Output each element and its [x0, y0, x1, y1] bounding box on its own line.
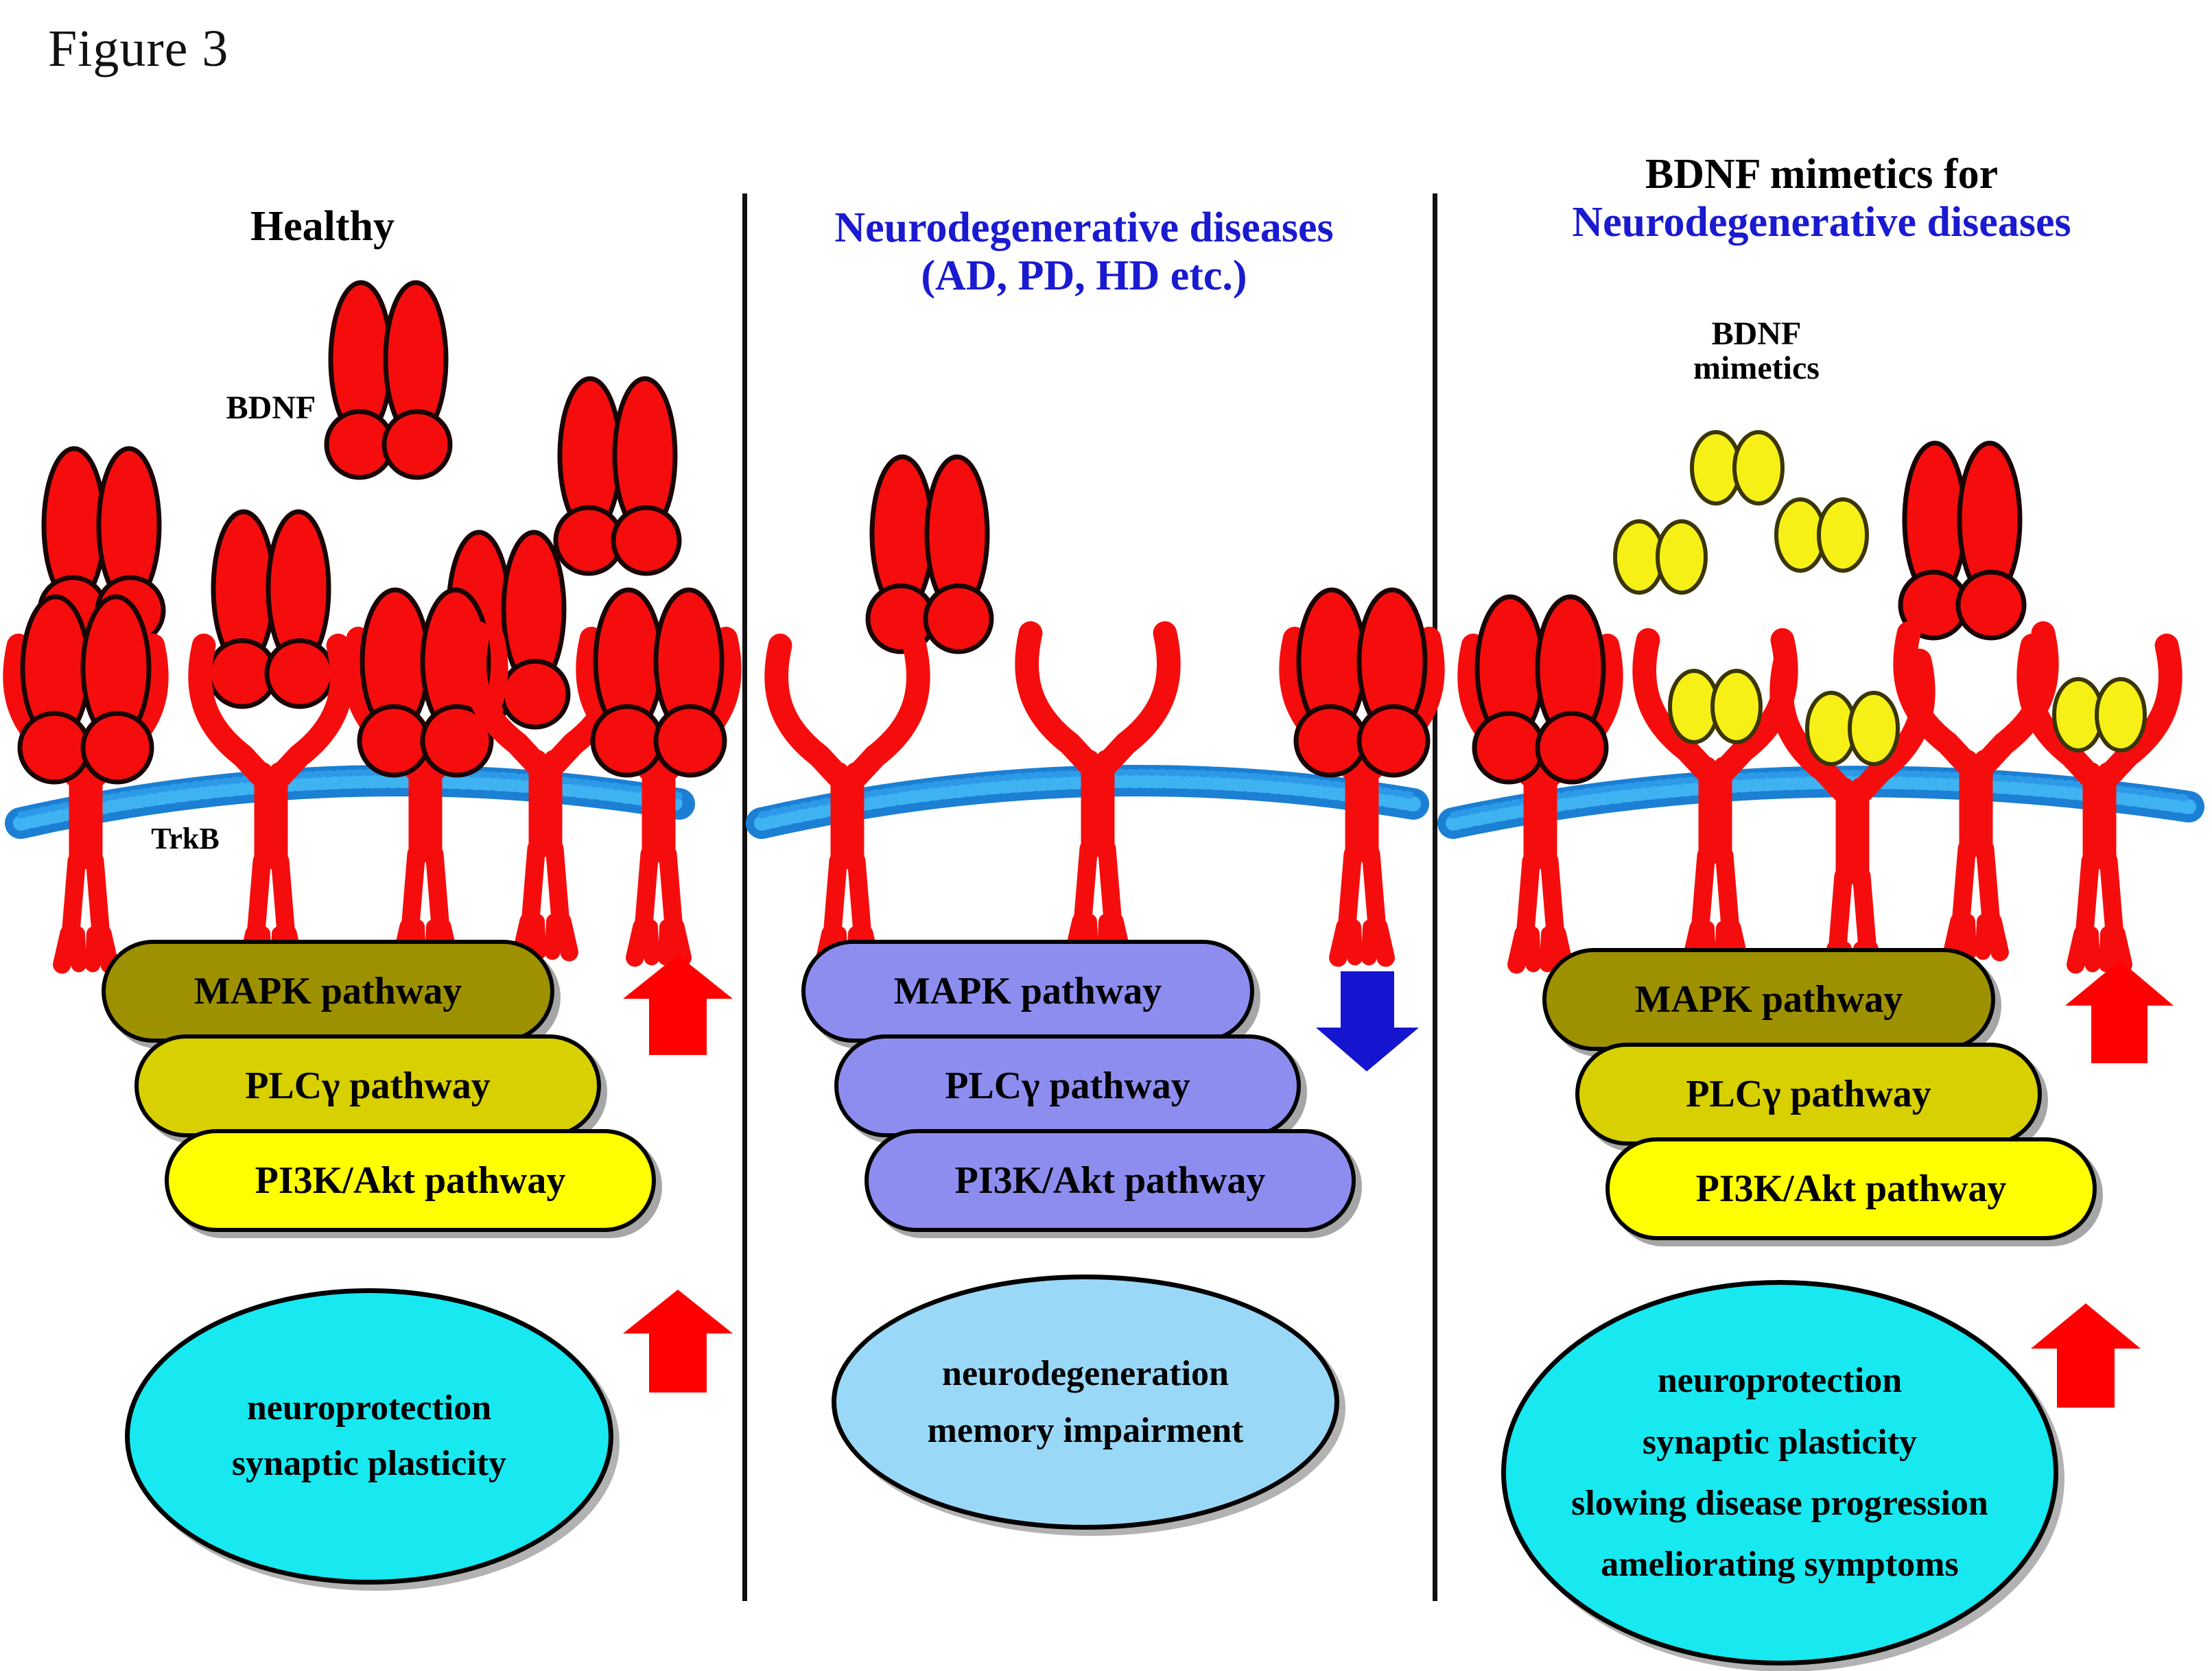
bdnf-molecule — [1901, 443, 2024, 638]
outcome-ellipse-healthy: neuroprotection synaptic plasticity — [125, 1288, 613, 1585]
trkb-receptor-empty — [777, 645, 919, 964]
panel-disease-graphics — [762, 457, 1433, 964]
pathway-arrow-up — [2065, 960, 2174, 1063]
cell-membrane — [762, 772, 1413, 823]
bdnf-molecule — [556, 379, 679, 573]
trkb-receptor-bound — [588, 590, 730, 958]
panel-divider-right — [1433, 193, 1437, 1601]
trkb-receptor-bound-mimetic — [1782, 661, 1924, 980]
bdnf-mimetic-molecule — [1615, 521, 1706, 593]
panel-title-mimetics-line2: Neurodegenerative diseases — [1448, 200, 2196, 244]
trkb-receptor-bound-mimetic — [1645, 640, 1787, 959]
pathway-pill-plcg: PLCγ pathway — [134, 1034, 601, 1137]
panel-title-healthy: Healthy — [82, 204, 563, 248]
cell-membrane — [1453, 773, 2189, 823]
pathway-pill-pi3k: PI3K/Akt pathway — [1605, 1137, 2097, 1240]
trkb-receptor-empty — [1027, 633, 1169, 952]
pathway-pill-mapk: MAPK pathway — [801, 940, 1254, 1043]
pathway-pill-pi3k: PI3K/Akt pathway — [165, 1129, 656, 1232]
panel-title-disease: Neurodegenerative diseases (AD, PD, HD e… — [755, 206, 1413, 298]
bdnf-mimetic-molecule — [1776, 499, 1867, 571]
bdnf-molecule — [327, 283, 450, 477]
panel-divider-left — [742, 193, 747, 1601]
trkb-receptor-bound — [15, 597, 157, 964]
pathway-pill-mapk: MAPK pathway — [102, 940, 554, 1043]
trkb-receptor-bound — [355, 590, 497, 958]
trkb-receptor-bound — [1470, 597, 1612, 964]
outcome-arrow-up — [623, 1290, 733, 1392]
panel-title-disease-line2: (AD, PD, HD etc.) — [755, 254, 1413, 298]
pathway-pill-mapk: MAPK pathway — [1542, 948, 1995, 1051]
panel-title-mimetics-line1: BDNF mimetics for — [1448, 152, 2196, 196]
panel-healthy-graphics — [15, 283, 730, 964]
pathway-arrow-down — [1316, 971, 1419, 1071]
bdnf-label: BDNF — [192, 391, 350, 425]
pathway-arrow-up — [623, 955, 733, 1055]
outcome-ellipse-mimetics: neuroprotection synaptic plasticity slow… — [1501, 1280, 2058, 1666]
bdnf-mimetics-label-line1: BDNF — [1654, 317, 1859, 351]
bdnf-mimetics-label-line2: mimetics — [1654, 351, 1859, 386]
panel-title-disease-line1: Neurodegenerative diseases — [755, 206, 1413, 250]
trkb-receptor-empty — [475, 633, 617, 952]
bdnf-molecule — [40, 449, 163, 643]
trkb-label: TrkB — [117, 823, 254, 855]
panel-mimetics-graphics — [1453, 432, 2189, 980]
panel-title-mimetics: BDNF mimetics for Neurodegenerative dise… — [1448, 152, 2196, 245]
trkb-receptor-bound — [1291, 590, 1433, 958]
trkb-receptor-bound — [1905, 633, 2047, 952]
figure-label: Figure 3 — [48, 19, 228, 79]
bdnf-mimetics-label: BDNF mimetics — [1654, 317, 1859, 386]
bdnf-molecule — [445, 532, 568, 727]
pathway-pill-plcg: PLCγ pathway — [834, 1034, 1301, 1137]
bdnf-molecule — [209, 512, 333, 707]
trkb-receptor-bound-mimetic — [2029, 645, 2171, 964]
trkb-receptor-empty — [200, 645, 342, 964]
pathway-pill-pi3k: PI3K/Akt pathway — [864, 1129, 1356, 1232]
pathway-pill-plcg: PLCγ pathway — [1575, 1043, 2042, 1146]
outcome-ellipse-disease: neurodegeneration memory impairment — [832, 1275, 1339, 1530]
cell-membrane — [21, 772, 679, 823]
bdnf-molecule — [868, 457, 991, 652]
panel-title-healthy-line1: Healthy — [82, 204, 563, 248]
bdnf-mimetic-molecule — [1692, 432, 1782, 503]
